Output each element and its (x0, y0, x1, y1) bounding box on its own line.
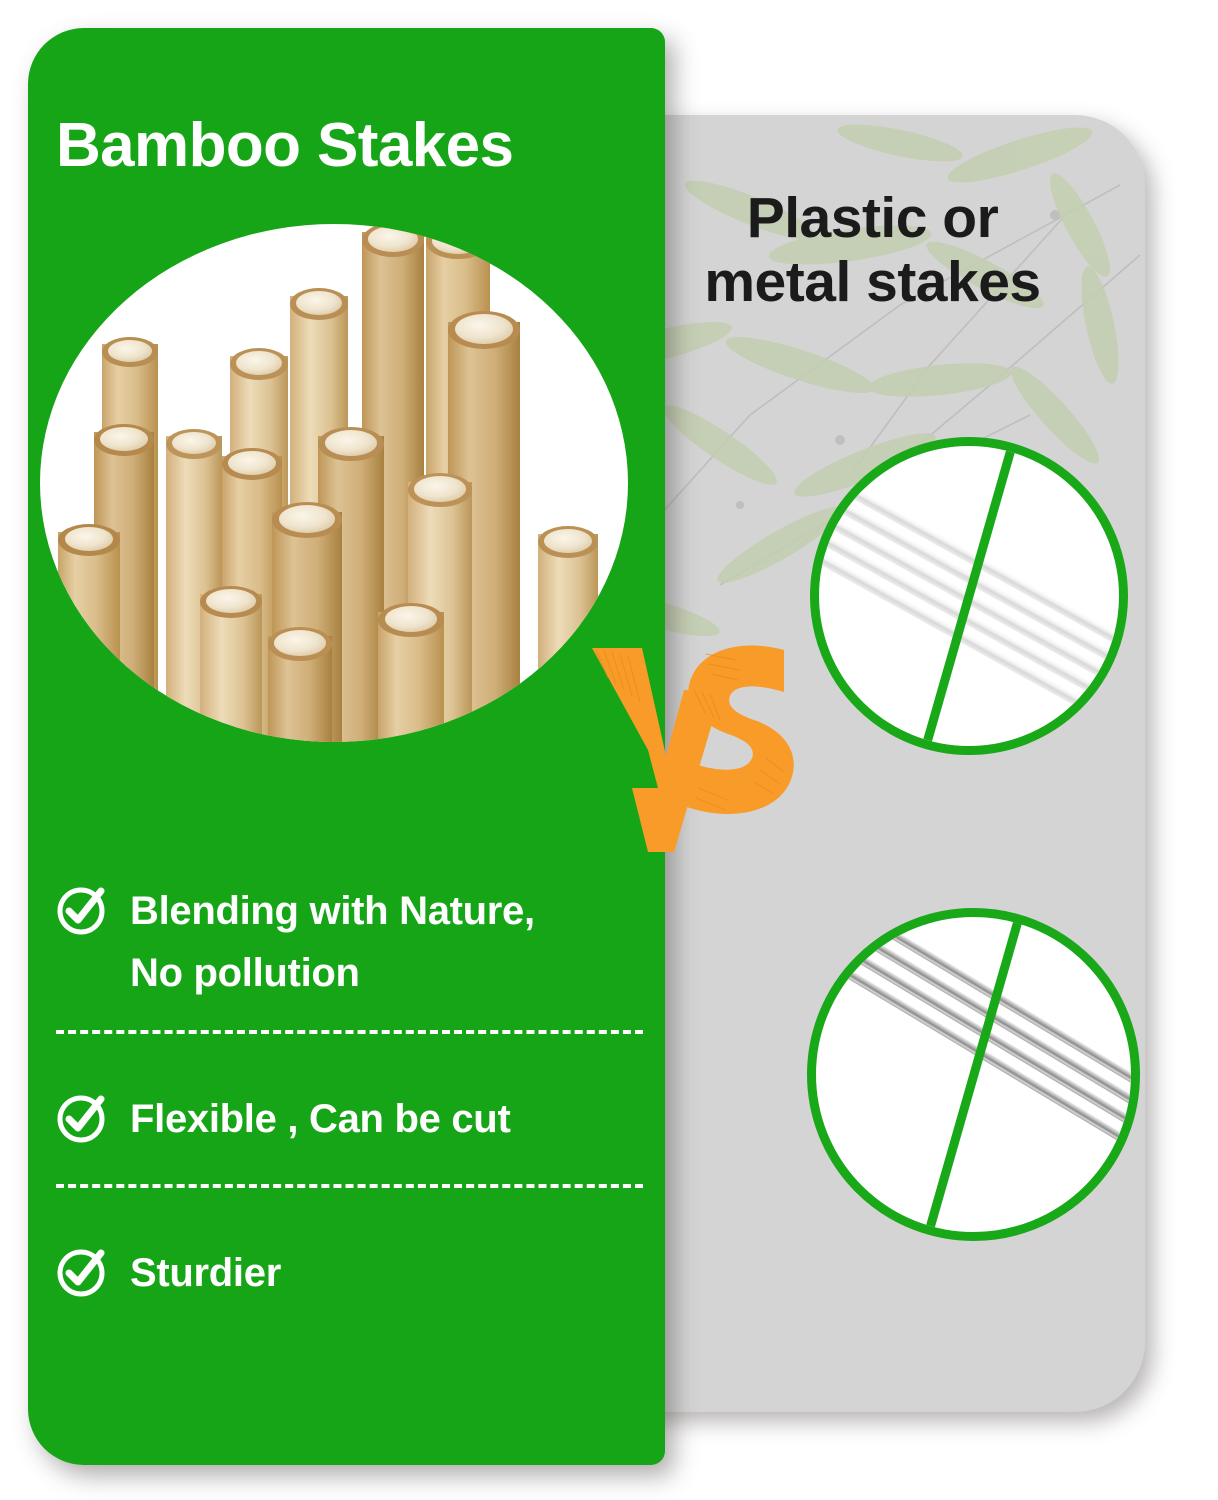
feature-divider (56, 1184, 643, 1188)
spacer (28, 1212, 665, 1242)
feature-label: Flexible , Can be cut (130, 1088, 510, 1150)
feature-label-line1: Blending with Nature, (130, 880, 535, 942)
versus-badge-icon (588, 638, 808, 853)
spacer (28, 1058, 665, 1088)
bamboo-stakes-photo (40, 224, 628, 742)
feature-item-flexible: Flexible , Can be cut (28, 1088, 665, 1158)
prohibited-metal-stakes (807, 908, 1140, 1241)
feature-label: Blending with Nature, No pollution (130, 880, 535, 1004)
left-panel-title: Bamboo Stakes (56, 110, 513, 181)
right-panel-title-line1: Plastic or (600, 187, 1145, 251)
feature-label: Sturdier (130, 1242, 281, 1304)
right-panel-title: Plastic or metal stakes (600, 187, 1145, 315)
feature-item-sturdier: Sturdier (28, 1242, 665, 1312)
prohibited-plastic-stakes (810, 437, 1128, 755)
bamboo-canes-illustration (40, 224, 628, 742)
comparison-panel-left: Bamboo Stakes (28, 28, 665, 1465)
feature-item-blending-with-nature: Blending with Nature, No pollution (28, 880, 665, 1004)
feature-list: Blending with Nature, No pollution Flexi… (28, 880, 665, 1312)
check-circle-icon (56, 1090, 110, 1144)
feature-divider (56, 1030, 643, 1034)
check-circle-icon (56, 1244, 110, 1298)
feature-label-line2: No pollution (130, 942, 535, 1004)
right-panel-title-line2: metal stakes (600, 251, 1145, 315)
check-circle-icon (56, 882, 110, 936)
